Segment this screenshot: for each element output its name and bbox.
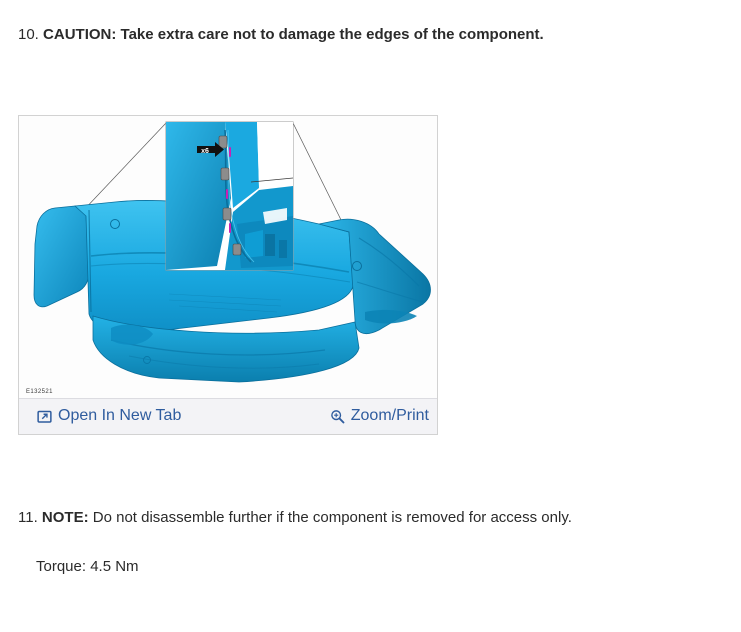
figure-toolbar: Open In New Tab Zoom/Print xyxy=(19,398,437,434)
magnifier-plus-icon xyxy=(330,409,345,424)
step-number: 11. xyxy=(18,509,38,526)
figure-panel: x6 E132521 Open In New Tab xyxy=(18,115,438,435)
step-number: 10. xyxy=(18,26,39,43)
figure-image-area: x6 E132521 xyxy=(19,116,437,399)
zoom-print-button[interactable]: Zoom/Print xyxy=(330,406,429,426)
rear-bumper-illustration: x6 xyxy=(19,116,437,399)
step-note-text: Do not disassemble further if the compon… xyxy=(93,509,572,526)
open-in-new-tab-label: Open In New Tab xyxy=(58,406,181,426)
detail-inset: x6 xyxy=(166,122,293,270)
step-note-label: NOTE: xyxy=(42,509,89,526)
procedure-step-11: 11. NOTE: Do not disassemble further if … xyxy=(18,508,572,528)
step-caution-label: CAUTION: xyxy=(43,26,116,43)
procedure-step-10: 10. CAUTION: Take extra care not to dama… xyxy=(18,25,544,45)
open-in-new-tab-button[interactable]: Open In New Tab xyxy=(37,406,181,426)
torque-specification: Torque: 4.5 Nm xyxy=(36,558,139,575)
quantity-callout-label: x6 xyxy=(201,148,209,155)
step-caution-text: Take extra care not to damage the edges … xyxy=(121,26,544,43)
zoom-print-label: Zoom/Print xyxy=(351,406,429,426)
figure-id-label: E132521 xyxy=(26,389,53,395)
open-in-new-tab-icon xyxy=(37,409,52,424)
